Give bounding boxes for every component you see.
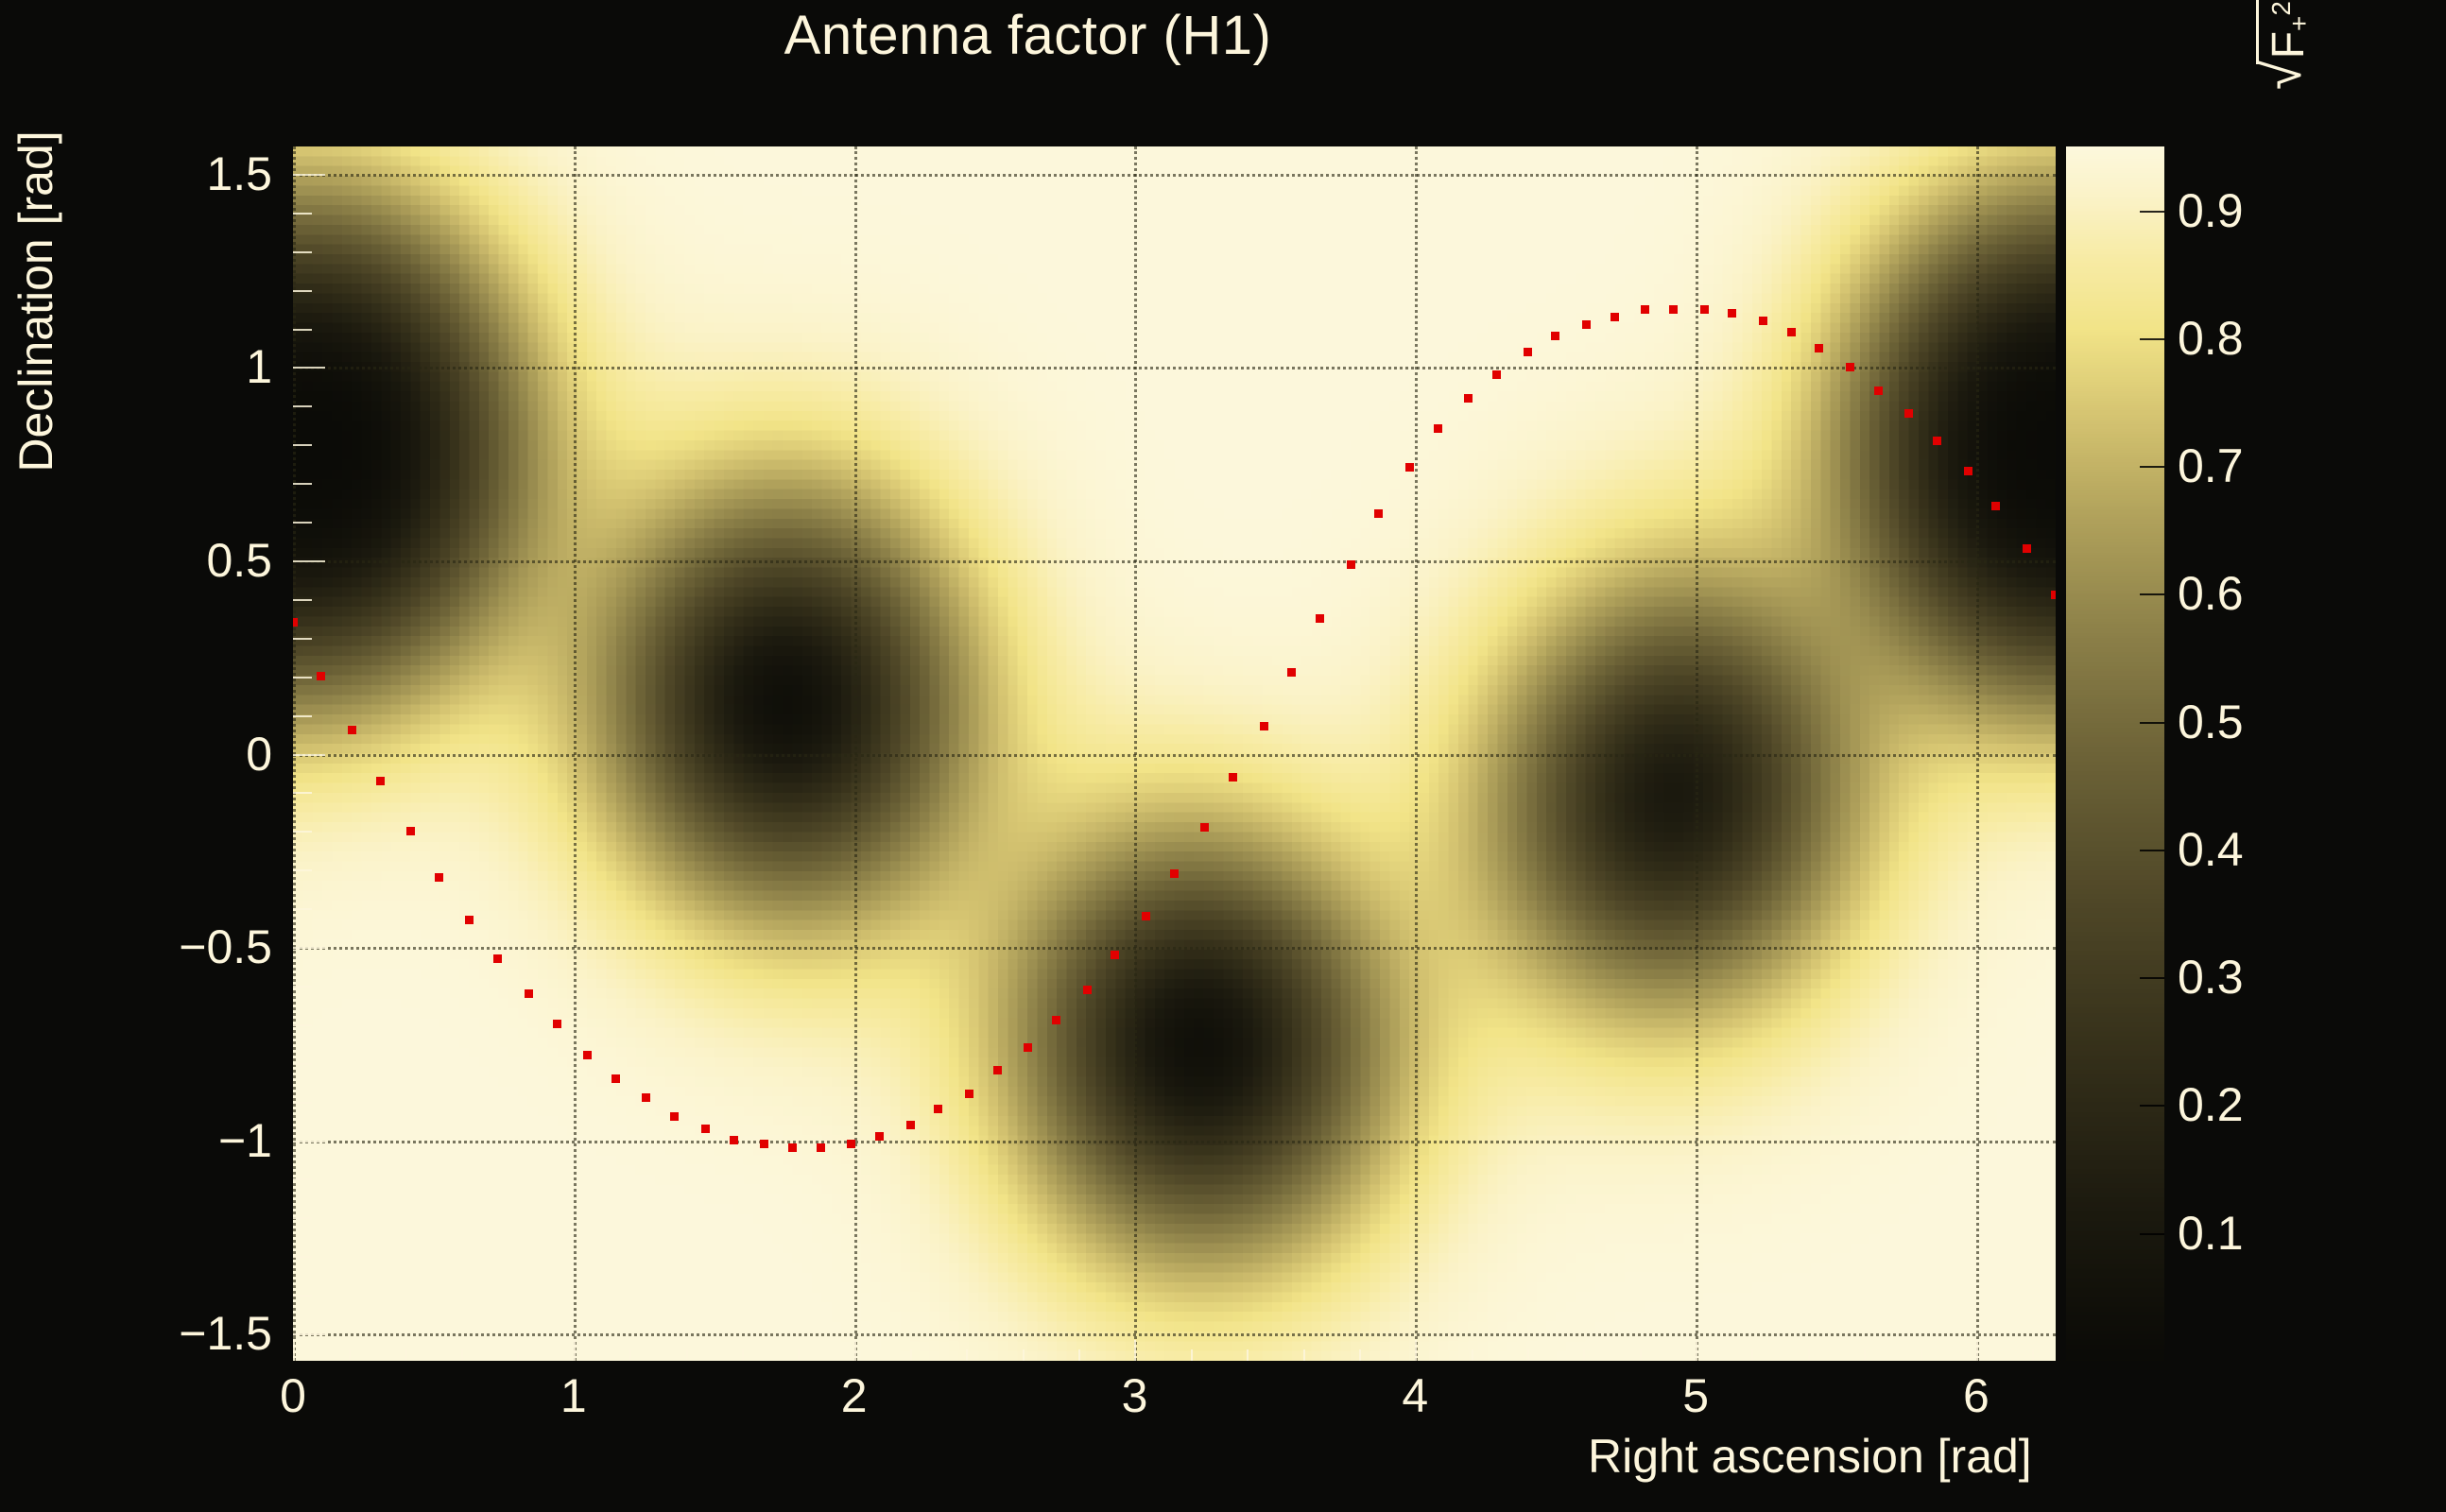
colorbar-tick-label: 0.9	[2178, 183, 2244, 238]
colorbar-tick	[2140, 466, 2164, 468]
colorbar-tick-label: 0.4	[2178, 822, 2244, 877]
y-tick-minor	[293, 599, 312, 601]
y-tick-minor	[293, 1217, 312, 1219]
overlay-curve-point	[611, 1074, 620, 1083]
colorbar-tick	[2140, 850, 2164, 851]
x-tick-minor	[349, 1349, 351, 1361]
y-tick-minor	[293, 1178, 312, 1180]
overlay-curve-point	[1933, 437, 1941, 445]
overlay-curve-point	[1200, 823, 1209, 832]
y-tick-minor	[293, 677, 312, 679]
colorbar-tick-label: 0.8	[2178, 311, 2244, 366]
x-tick-label: 0	[280, 1368, 306, 1423]
y-tick-label: 0.5	[206, 533, 272, 588]
overlay-curve-point	[1287, 668, 1296, 677]
overlay-curve-point	[376, 777, 385, 785]
overlay-curve-point	[1464, 394, 1473, 403]
x-tick-minor	[798, 1349, 800, 1361]
x-tick-minor	[461, 1349, 463, 1361]
x-tick-label: 6	[1963, 1368, 1990, 1423]
overlay-curve-point	[1492, 370, 1501, 379]
x-tick-minor	[1247, 1349, 1249, 1361]
overlay-curve-point	[1229, 773, 1237, 782]
overlay-curve-point	[1846, 363, 1854, 371]
y-tick-label: 1	[246, 339, 272, 394]
y-tick-major	[293, 560, 325, 562]
overlay-curve-point	[1170, 869, 1179, 878]
x-tick-minor	[2032, 1349, 2034, 1361]
x-tick-minor	[1751, 1349, 1753, 1361]
y-tick-minor	[293, 792, 312, 794]
y-tick-minor	[293, 213, 312, 215]
overlay-curve-point	[1815, 344, 1823, 352]
overlay-curve-point	[1991, 502, 2000, 510]
colorbar-tick	[2140, 977, 2164, 979]
y-tick-minor	[293, 483, 312, 485]
root-canvas: Antenna factor (H1) 0123456 −1.5−1−0.500…	[0, 0, 2446, 1512]
overlay-curve-point	[1083, 986, 1092, 994]
x-tick-major	[1134, 1340, 1136, 1361]
overlay-curve-point	[1111, 951, 1119, 959]
x-tick-major	[293, 1340, 295, 1361]
y-tick-minor	[293, 1295, 312, 1297]
colorbar-tick	[2140, 211, 2164, 213]
overlay-curve-point	[317, 672, 325, 680]
overlay-curve-point	[406, 827, 415, 835]
overlay-curve-point	[1052, 1016, 1060, 1024]
overlay-curve-point	[1260, 722, 1268, 730]
overlay-curve-point	[906, 1121, 915, 1129]
y-tick-major	[293, 367, 325, 369]
colorbar-tick-label: 0.6	[2178, 566, 2244, 621]
overlay-curve-point	[1904, 409, 1913, 418]
x-axis-title: Right ascension [rad]	[1588, 1429, 2032, 1484]
x-tick-minor	[686, 1349, 688, 1361]
overlay-curve-point	[2023, 544, 2031, 553]
overlay-curve-point	[760, 1140, 768, 1148]
x-tick-minor	[1808, 1349, 1810, 1361]
overlay-curve-point	[293, 618, 298, 627]
colorbar-tick-label: 0.3	[2178, 950, 2244, 1005]
x-tick-major	[1415, 1340, 1417, 1361]
overlay-curve-point	[1759, 317, 1767, 325]
sqrt-icon: √ F+2 + Fx2	[2256, 0, 2315, 90]
overlay-curve-point	[465, 916, 474, 924]
y-tick-minor	[293, 1063, 312, 1065]
y-tick-label: 0	[246, 727, 272, 782]
y-tick-major	[293, 174, 325, 176]
x-tick-minor	[1023, 1349, 1025, 1361]
overlay-curve-point	[1434, 424, 1442, 433]
overlay-curve-point	[435, 873, 443, 882]
overlay-curve-point	[642, 1093, 650, 1102]
colorbar-tick	[2140, 1233, 2164, 1235]
y-tick-minor	[293, 831, 312, 833]
x-tick-label: 3	[1122, 1368, 1148, 1423]
x-tick-label: 2	[841, 1368, 868, 1423]
y-axis-title: Declination [rad]	[9, 18, 63, 585]
overlay-curve-point	[817, 1143, 825, 1152]
x-tick-minor	[1078, 1349, 1080, 1361]
x-tick-minor	[910, 1349, 912, 1361]
overlay-curve-point	[934, 1105, 942, 1113]
overlay-curve-point	[730, 1136, 738, 1144]
overlay-curve-point	[348, 726, 356, 734]
colorbar-tick-label: 0.5	[2178, 695, 2244, 749]
overlay-curve-point	[493, 954, 502, 963]
overlay-curve-point	[1551, 332, 1559, 340]
y-tick-minor	[293, 444, 312, 446]
y-tick-minor	[293, 290, 312, 292]
overlay-curve-point	[1374, 509, 1383, 518]
y-tick-minor	[293, 715, 312, 717]
y-tick-minor	[293, 251, 312, 253]
overlay-curve-point	[1874, 387, 1883, 395]
y-tick-minor	[293, 1102, 312, 1104]
y-tick-minor	[293, 1024, 312, 1026]
colorbar-tick	[2140, 593, 2164, 595]
colorbar-tick-label: 0.2	[2178, 1077, 2244, 1132]
x-tick-major	[854, 1340, 856, 1361]
page-title: Antenna factor (H1)	[0, 4, 2056, 67]
x-tick-minor	[1640, 1349, 1642, 1361]
overlay-curve-point	[1142, 912, 1150, 920]
colorbar-tick	[2140, 722, 2164, 724]
overlay-curve-point	[701, 1125, 710, 1133]
overlay-curve-point	[583, 1051, 592, 1059]
colorbar-tick	[2140, 338, 2164, 340]
y-tick-minor	[293, 869, 312, 871]
y-tick-label: 1.5	[206, 146, 272, 201]
x-tick-minor	[1583, 1349, 1585, 1361]
x-tick-minor	[1359, 1349, 1361, 1361]
overlay-curve-point	[1347, 560, 1355, 569]
y-tick-major	[293, 754, 325, 756]
overlay-curve-point	[1582, 320, 1591, 329]
y-tick-minor	[293, 329, 312, 331]
y-tick-major	[293, 947, 325, 949]
x-tick-label: 5	[1682, 1368, 1709, 1423]
x-tick-major	[1976, 1340, 1978, 1361]
y-tick-minor	[293, 522, 312, 524]
y-tick-minor	[293, 405, 312, 407]
overlay-curve-point	[670, 1112, 679, 1121]
y-tick-minor	[293, 908, 312, 910]
colorbar-tick	[2140, 1105, 2164, 1107]
overlay-curve-point	[525, 989, 533, 998]
y-tick-label: −1	[218, 1113, 272, 1168]
x-tick-major	[574, 1340, 576, 1361]
x-tick-minor	[517, 1349, 519, 1361]
x-tick-minor	[1191, 1349, 1193, 1361]
x-tick-minor	[629, 1349, 631, 1361]
overlay-curve-point	[1700, 305, 1709, 314]
overlay-curve-point	[875, 1132, 884, 1141]
overlay-curve-point	[847, 1140, 855, 1148]
y-tick-minor	[293, 986, 312, 988]
overlay-curve-point	[1641, 305, 1649, 314]
overlay-curve-point	[1316, 614, 1324, 623]
x-tick-minor	[1864, 1349, 1866, 1361]
colorbar-title: √ F+2 + Fx2	[2248, 0, 2323, 90]
y-tick-major	[293, 1141, 325, 1143]
overlay-curve-point	[553, 1020, 561, 1028]
x-tick-minor	[405, 1349, 407, 1361]
heatmap-plot-area[interactable]	[293, 146, 2056, 1361]
x-tick-label: 1	[560, 1368, 587, 1423]
y-tick-major	[293, 1333, 325, 1335]
overlay-curve-point	[1787, 328, 1796, 336]
overlay-curve-point	[1024, 1043, 1032, 1052]
overlay-curve-point	[1728, 309, 1736, 318]
colorbar-tick-label: 0.7	[2178, 438, 2244, 493]
y-tick-label: −1.5	[179, 1306, 272, 1361]
x-tick-minor	[1472, 1349, 1473, 1361]
x-tick-label: 4	[1402, 1368, 1428, 1423]
y-tick-label: −0.5	[179, 919, 272, 974]
colorbar[interactable]	[2066, 146, 2164, 1361]
x-tick-minor	[1527, 1349, 1529, 1361]
overlay-curve-point	[1964, 467, 1972, 475]
overlay-curve-point	[788, 1143, 797, 1152]
x-tick-major	[1696, 1340, 1697, 1361]
x-tick-minor	[742, 1349, 744, 1361]
overlay-curve-point	[1524, 348, 1532, 356]
overlay-curve-point	[2051, 591, 2056, 599]
sqrt-radicand: F+2 + Fx2	[2256, 0, 2315, 64]
y-tick-minor	[293, 1256, 312, 1258]
overlay-curve-point	[1405, 463, 1414, 472]
x-tick-minor	[966, 1349, 968, 1361]
overlay-curve-point	[1669, 305, 1678, 314]
overlay-curve-point	[965, 1090, 973, 1098]
overlay-curve-point	[1611, 313, 1619, 321]
y-tick-minor	[293, 638, 312, 640]
overlay-curve-point	[993, 1066, 1002, 1074]
x-tick-minor	[1921, 1349, 1922, 1361]
x-tick-minor	[1303, 1349, 1305, 1361]
colorbar-tick-label: 0.1	[2178, 1206, 2244, 1261]
colorbar-gradient	[2066, 146, 2164, 1361]
